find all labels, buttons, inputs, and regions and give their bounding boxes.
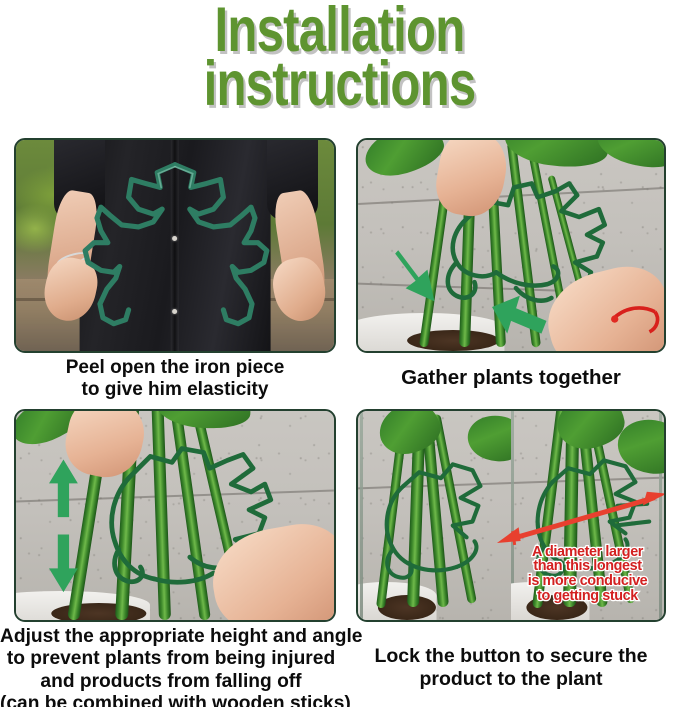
panel-1-scene — [16, 140, 334, 351]
wire-support — [358, 411, 511, 620]
instruction-poster: Installation instructions — [0, 0, 679, 707]
step-3-caption: Adjust the appropriate height and angle … — [0, 626, 342, 707]
caption-line: Gather plants together — [350, 366, 672, 390]
caption-line: Adjust the appropriate height and angle — [0, 626, 342, 648]
step-2-caption: Gather plants together — [350, 366, 672, 390]
caption-line: product to the plant — [350, 668, 672, 691]
panel-4-left-half — [358, 411, 511, 620]
split-divider — [360, 411, 363, 620]
step-4-photo: A diameter larger than this longest is m… — [356, 409, 666, 622]
red-text-line: is more conducive — [511, 574, 664, 589]
title-line-2: instructions — [75, 56, 605, 114]
caption-line: Peel open the iron piece — [8, 357, 342, 379]
red-diameter-arrow — [493, 486, 664, 549]
panel-4-scene: A diameter larger than this longest is m… — [358, 411, 664, 620]
caption-line: (can be combined with wooden sticks) — [0, 693, 342, 707]
step-4-caption: Lock the button to secure the product to… — [350, 645, 672, 690]
step-3-photo — [14, 409, 336, 622]
panel-2-scene — [358, 140, 664, 351]
leaf-shaped-wire-support — [16, 140, 334, 351]
arrow-down-right-icon — [376, 250, 468, 313]
caption-line: to give him elasticity — [8, 379, 342, 401]
panel-3-scene — [16, 411, 334, 620]
red-text-line: than this longest — [511, 559, 664, 574]
red-bracelet — [603, 288, 664, 343]
caption-line: and products from falling off — [0, 671, 342, 693]
caption-line: Lock the button to secure the — [350, 645, 672, 668]
red-warning-text: A diameter larger than this longest is m… — [511, 545, 664, 604]
arrow-down-icon — [38, 532, 89, 595]
red-text-line: to getting stuck — [511, 589, 664, 604]
step-2-photo — [356, 138, 666, 353]
step-1-photo — [14, 138, 336, 353]
caption-line: to prevent plants from being injured — [0, 648, 342, 670]
page-title: Installation instructions — [0, 2, 679, 114]
step-1-caption: Peel open the iron piece to give him ela… — [8, 357, 342, 401]
